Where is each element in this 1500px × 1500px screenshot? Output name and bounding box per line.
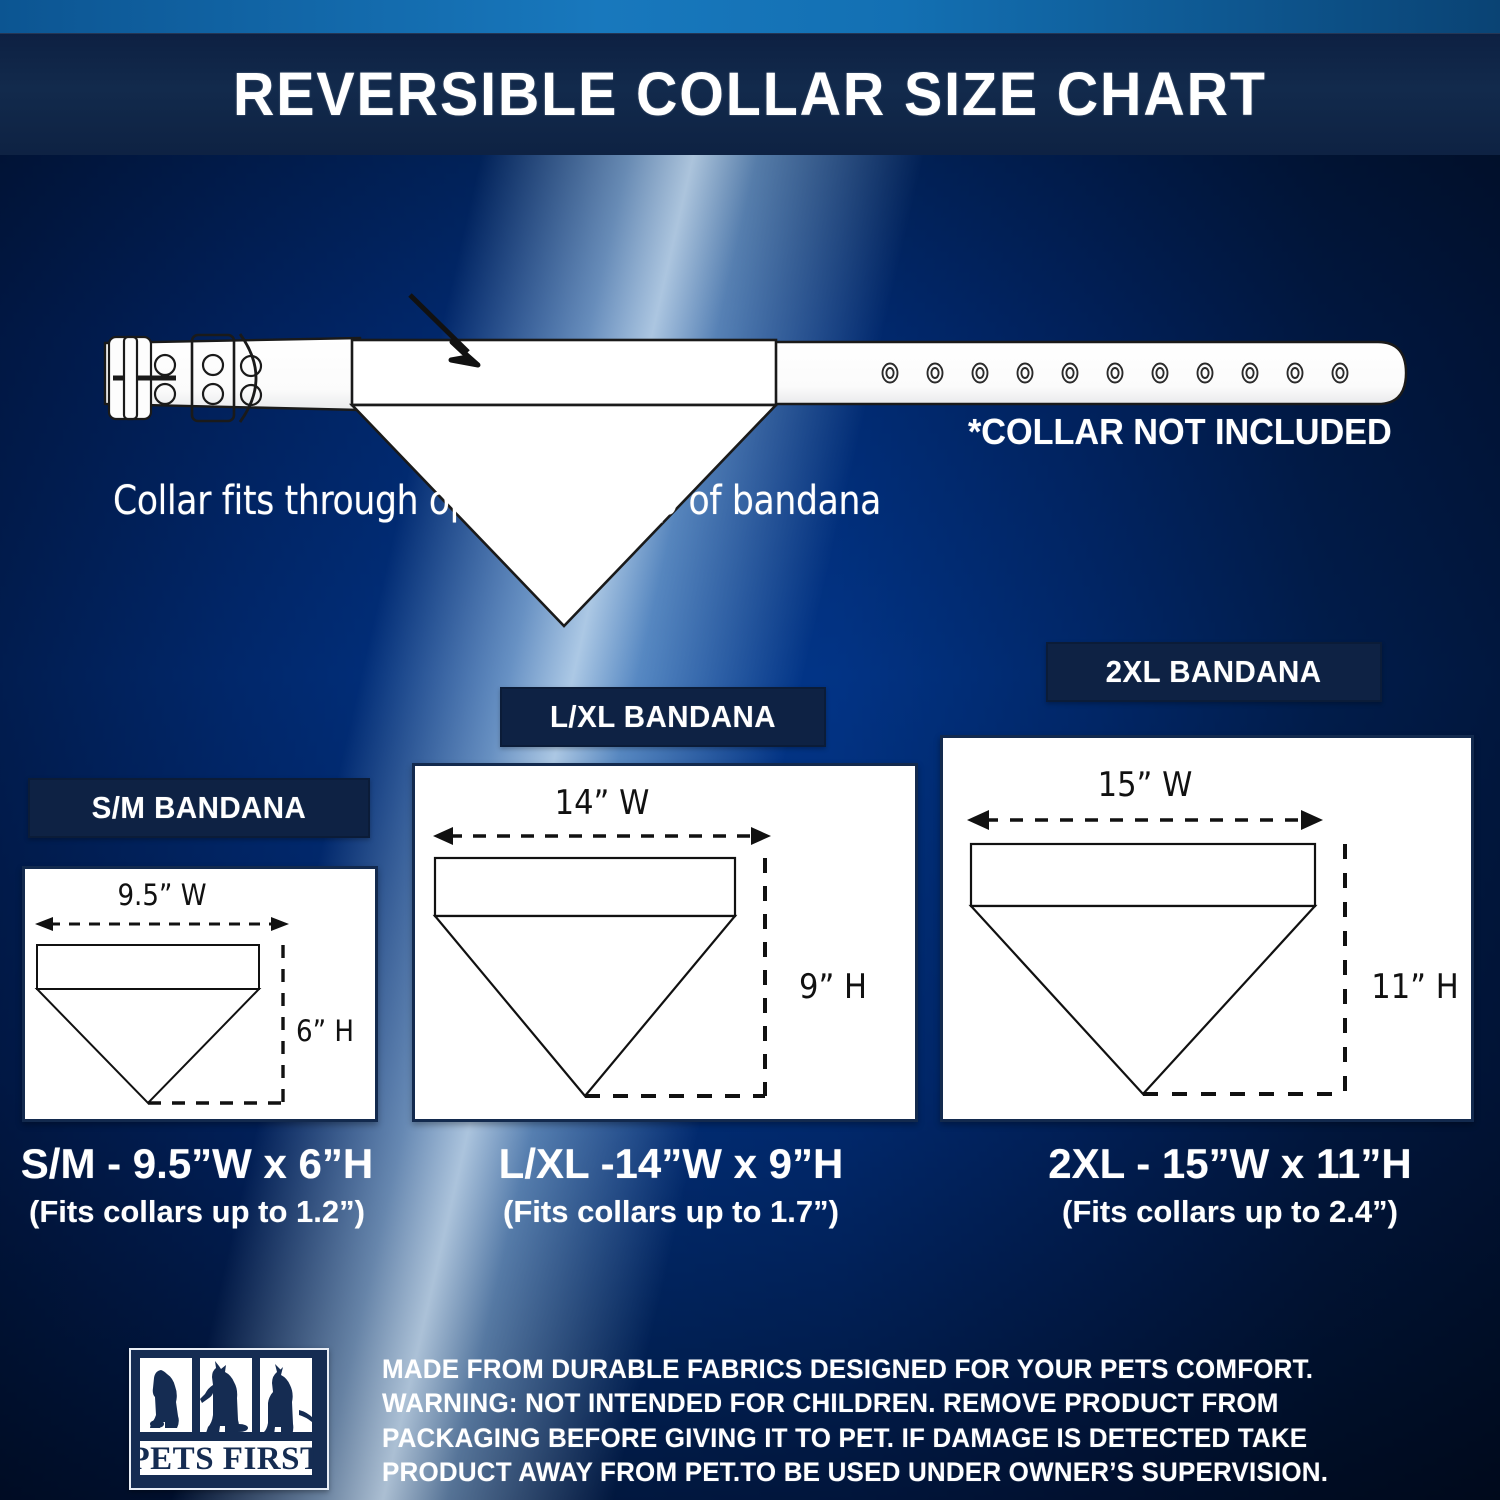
footer-line-2: WARNING: NOT INTENDED FOR CHILDREN. REMO… <box>382 1386 1372 1420</box>
pets-first-logo-mark: PETS FIRST <box>131 1350 323 1484</box>
size-caption-line2-2xl: (Fits collars up to 2.4”) <box>1010 1194 1450 1230</box>
height-label-2xl: 11” H <box>1371 967 1458 1007</box>
size-caption-line1-2xl: 2XL - 15”W x 11”H <box>1010 1140 1450 1188</box>
footer-line-3: PACKAGING BEFORE GIVING IT TO PET. IF DA… <box>382 1421 1372 1455</box>
top-accent-strip <box>0 0 1500 33</box>
size-panel-2xl: 15” W 11” H <box>940 735 1474 1122</box>
footer-line-1: MADE FROM DURABLE FABRICS DESIGNED FOR Y… <box>382 1352 1372 1386</box>
width-dimension-2xl <box>967 810 1323 830</box>
size-tab-label-sm: S/M BANDANA <box>92 790 307 826</box>
size-caption-sm: S/M - 9.5”W x 6”H (Fits collars up to 1.… <box>14 1140 380 1230</box>
size-panel-sm: 9.5” W 6” H <box>22 866 378 1122</box>
size-caption-line1-sm: S/M - 9.5”W x 6”H <box>14 1140 380 1188</box>
footer-disclaimer: MADE FROM DURABLE FABRICS DESIGNED FOR Y… <box>382 1352 1392 1490</box>
collar-not-included-note: *COLLAR NOT INCLUDED <box>968 411 1392 453</box>
width-label-2xl: 15” W <box>1098 765 1193 805</box>
size-caption-2xl: 2XL - 15”W x 11”H (Fits collars up to 2.… <box>1010 1140 1450 1230</box>
width-dimension-sm <box>35 917 289 931</box>
header-band: REVERSIBLE COLLAR SIZE CHART <box>0 33 1500 155</box>
size-tab-label-2xl: 2XL BANDANA <box>1106 654 1322 690</box>
width-dimension-lxl <box>433 827 771 845</box>
size-chart-graphic: REVERSIBLE COLLAR SIZE CHART Collar fits… <box>0 0 1500 1500</box>
callout-label: Collar fits through opening at top of ba… <box>113 478 881 524</box>
size-caption-line2-sm: (Fits collars up to 1.2”) <box>14 1194 380 1230</box>
size-caption-lxl: L/XL -14”W x 9”H (Fits collars up to 1.7… <box>466 1140 876 1230</box>
width-label-sm: 9.5” W <box>117 878 206 912</box>
size-panel-lxl: 14” W 9” H <box>412 763 918 1122</box>
page-title: REVERSIBLE COLLAR SIZE CHART <box>233 59 1267 129</box>
bandana-diagram-lxl: 14” W 9” H <box>415 766 909 1113</box>
size-tab-2xl: 2XL BANDANA <box>1046 642 1382 702</box>
bandana-diagram-sm: 9.5” W 6” H <box>25 869 369 1113</box>
collar-strap-right <box>770 342 1406 404</box>
bandana-diagram-2xl: 15” W 11” H <box>943 738 1465 1113</box>
size-caption-line1-lxl: L/XL -14”W x 9”H <box>466 1140 876 1188</box>
width-label-lxl: 14” W <box>555 783 650 823</box>
height-label-sm: 6” H <box>296 1014 354 1048</box>
logo-wordmark: PETS FIRST <box>131 1441 322 1477</box>
size-caption-line2-lxl: (Fits collars up to 1.7”) <box>466 1194 876 1230</box>
collar-illustration: Collar fits through opening at top of ba… <box>0 230 1500 650</box>
size-tab-label-lxl: L/XL BANDANA <box>550 699 776 735</box>
size-tab-lxl: L/XL BANDANA <box>500 687 826 747</box>
footer-line-4: PRODUCT AWAY FROM PET.TO BE USED UNDER O… <box>382 1455 1372 1489</box>
height-label-lxl: 9” H <box>799 967 867 1007</box>
brand-logo: PETS FIRST <box>129 1348 329 1490</box>
size-tab-sm: S/M BANDANA <box>28 778 370 838</box>
